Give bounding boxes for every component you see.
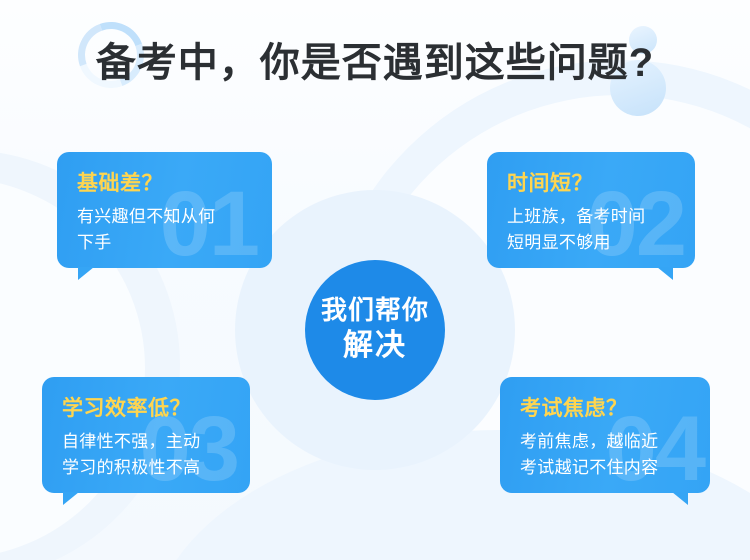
card-body: 考前焦虑，越临近 考试越记不住内容 [520, 429, 690, 481]
card-tail-01-icon [78, 267, 94, 280]
card-body: 自律性不强，主动 学习的积极性不高 [62, 429, 230, 481]
promo-banner: 备考中，你是否遇到这些问题? 我们帮你 解决 01 基础差？ 有兴趣但不知从何 … [0, 0, 750, 560]
center-line-primary: 我们帮你 [321, 295, 429, 327]
card-tail-02-icon [657, 267, 673, 280]
card-body: 上班族，备考时间 短明显不够用 [507, 204, 675, 256]
card-tail-04-icon [672, 492, 688, 505]
card-title: 学习效率低？ [62, 395, 230, 423]
center-line-secondary: 解决 [343, 327, 407, 365]
card-title: 时间短？ [507, 170, 675, 198]
card-tail-03-icon [63, 492, 79, 505]
center-solution-badge: 我们帮你 解决 [305, 260, 445, 400]
page-title: 备考中，你是否遇到这些问题? [0, 36, 750, 90]
header: 备考中，你是否遇到这些问题? [0, 0, 750, 130]
problem-card-01[interactable]: 01 基础差？ 有兴趣但不知从何 下手 [57, 152, 272, 268]
problem-card-02[interactable]: 02 时间短？ 上班族，备考时间 短明显不够用 [487, 152, 695, 268]
card-title: 基础差？ [77, 170, 252, 198]
problem-card-04[interactable]: 04 考试焦虑？ 考前焦虑，越临近 考试越记不住内容 [500, 377, 710, 493]
card-body: 有兴趣但不知从何 下手 [77, 204, 252, 256]
problem-card-03[interactable]: 03 学习效率低？ 自律性不强，主动 学习的积极性不高 [42, 377, 250, 493]
card-title: 考试焦虑？ [520, 395, 690, 423]
